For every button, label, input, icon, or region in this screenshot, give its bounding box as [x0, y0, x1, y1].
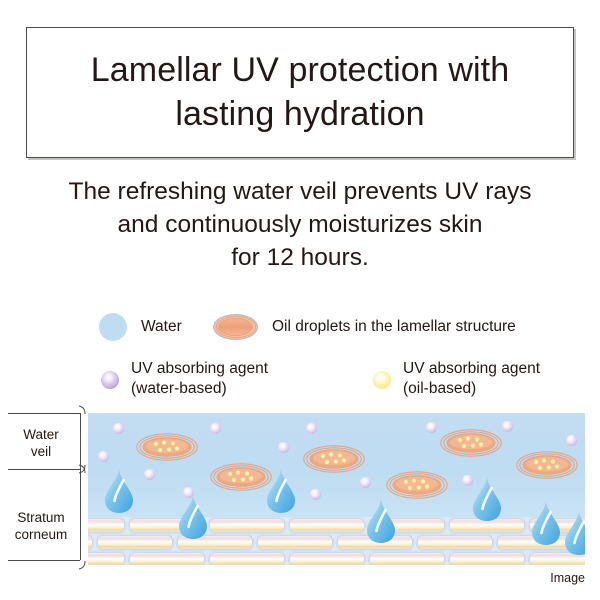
oil-droplet-swatch-icon: [213, 314, 258, 340]
water-drop: [531, 499, 561, 546]
legend-item-oil-droplets: Oil droplets in the lamellar structure: [213, 314, 516, 340]
uv-agent-water-dot: [144, 469, 155, 480]
layer-label-water-veil-line1: Water: [23, 427, 59, 442]
water-drop: [366, 497, 396, 544]
image-caption: Image: [0, 571, 585, 585]
legend-label-uv-agent-water-line2: (water-based): [131, 380, 227, 397]
water-drop: [472, 475, 502, 522]
uv-agent-water-dot: [310, 489, 321, 500]
legend-item-uv-agent-water: UV absorbing agent (water-based): [101, 359, 268, 399]
uv-agent-water-dot: [360, 477, 371, 488]
oil-droplet: [303, 441, 365, 477]
uv-agent-water-dot: [98, 451, 109, 462]
diagram-panel: [88, 413, 585, 565]
layer-divider-top: [8, 413, 80, 414]
legend-item-water: Water: [99, 313, 182, 341]
water-drop: [178, 493, 208, 540]
title-line-2: lasting hydration: [175, 95, 424, 133]
legend-label-uv-agent-water: UV absorbing agent (water-based): [131, 359, 268, 399]
layer-divider-bottom: [8, 560, 80, 561]
uv-agent-water-swatch-icon: [101, 371, 119, 389]
water-drop: [564, 509, 585, 556]
layer-label-stratum-corneum-line1: Stratum: [17, 510, 64, 525]
subtitle-line-3: for 12 hours.: [0, 242, 600, 275]
legend-label-uv-agent-oil-line1: UV absorbing agent: [403, 360, 540, 377]
title-box: Lamellar UV protection with lasting hydr…: [26, 27, 574, 158]
title-line-1: Lamellar UV protection with: [91, 51, 509, 89]
uv-agent-water-dot: [306, 423, 317, 434]
uv-agent-water-dot: [210, 423, 221, 434]
uv-agent-oil-swatch-icon: [373, 371, 391, 389]
oil-droplet: [136, 429, 198, 465]
stratum-corneum-layer: [88, 517, 585, 565]
uv-agent-water-dot: [502, 421, 513, 432]
oil-droplet: [440, 425, 502, 461]
layer-label-stratum-corneum-line2: corneum: [15, 527, 68, 542]
legend-label-water: Water: [141, 317, 182, 337]
subtitle-line-2: and continuously moisturizes skin: [0, 209, 600, 242]
uv-agent-water-dot: [566, 435, 577, 446]
skin-cross-section-diagram: Water veil Stratum corneum: [0, 405, 600, 600]
legend-label-uv-agent-oil: UV absorbing agent (oil-based): [403, 359, 540, 399]
layer-label-stratum-corneum: Stratum corneum: [2, 510, 80, 543]
oil-droplet: [210, 459, 272, 495]
subtitle: The refreshing water veil prevents UV ra…: [0, 176, 600, 274]
layer-divider-middle: [8, 469, 80, 470]
legend-label-uv-agent-oil-line2: (oil-based): [403, 380, 476, 397]
page-title: Lamellar UV protection with lasting hydr…: [83, 49, 517, 136]
water-circle-swatch-icon: [99, 313, 127, 341]
layer-labels: Water veil Stratum corneum: [0, 405, 88, 580]
legend-item-uv-agent-oil: UV absorbing agent (oil-based): [373, 359, 540, 399]
water-drop: [104, 467, 134, 514]
layer-label-water-veil-line2: veil: [31, 444, 51, 459]
legend-label-uv-agent-water-line1: UV absorbing agent: [131, 360, 268, 377]
uv-agent-water-dot: [113, 423, 124, 434]
legend-label-oil-droplets: Oil droplets in the lamellar structure: [272, 317, 516, 337]
oil-droplet: [516, 447, 578, 483]
uv-agent-water-dot: [426, 422, 437, 433]
water-drop: [266, 467, 296, 514]
uv-agent-water-dot: [278, 442, 289, 453]
subtitle-line-1: The refreshing water veil prevents UV ra…: [0, 176, 600, 209]
layer-label-water-veil: Water veil: [2, 427, 80, 460]
